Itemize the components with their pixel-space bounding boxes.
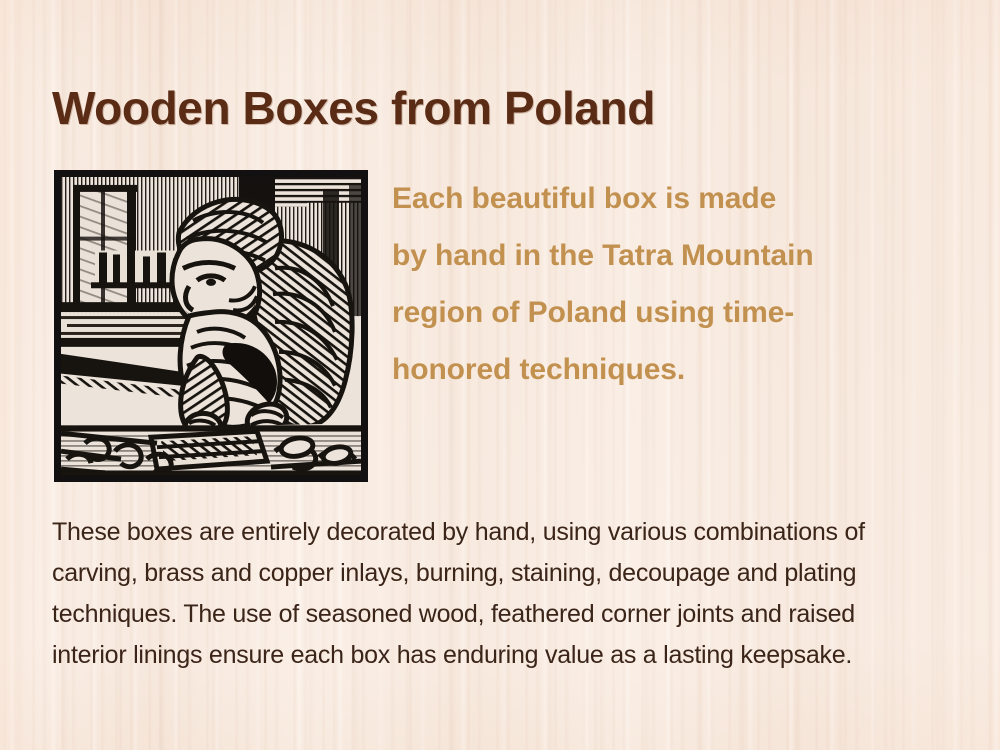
body-line: carving, brass and copper inlays, burnin… <box>52 553 962 594</box>
tagline-line: by hand in the Tatra Mountain <box>392 227 952 284</box>
tagline-line: Each beautiful box is made <box>392 170 952 227</box>
tagline-line: honored techniques. <box>392 341 952 398</box>
body-line: techniques. The use of seasoned wood, fe… <box>52 594 962 635</box>
product-description-page: Wooden Boxes from Poland <box>0 0 1000 750</box>
craftsman-woodcut-illustration <box>54 170 368 482</box>
tagline-text: Each beautiful box is made by hand in th… <box>392 170 952 398</box>
page-title: Wooden Boxes from Poland <box>52 81 655 135</box>
woodcut-engraving-graphic <box>61 177 361 475</box>
tagline-line: region of Poland using time- <box>392 284 952 341</box>
body-paragraph: These boxes are entirely decorated by ha… <box>52 512 962 676</box>
body-line: These boxes are entirely decorated by ha… <box>52 512 962 553</box>
body-line: interior linings ensure each box has end… <box>52 635 962 676</box>
